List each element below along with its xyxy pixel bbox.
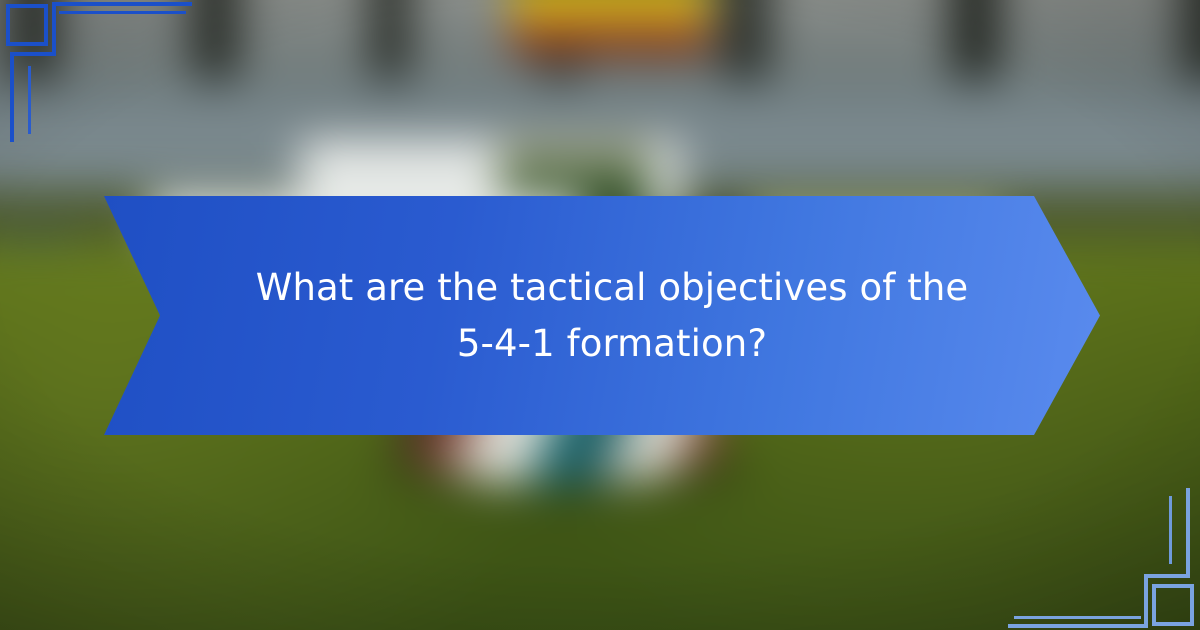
- banner-stage: What are the tactical objectives of the …: [0, 0, 1200, 630]
- bracket-line-vertical-outer: [10, 52, 14, 142]
- bracket-line-horizontal-inner: [1014, 616, 1141, 619]
- bracket-square-icon: [1152, 584, 1194, 626]
- bracket-line-vertical-inner: [1169, 496, 1172, 564]
- bracket-line-horizontal-inner: [59, 11, 186, 14]
- question-banner: What are the tactical objectives of the …: [104, 196, 1100, 435]
- bracket-corner-horizontal: [1144, 574, 1190, 578]
- bracket-corner-vertical: [52, 2, 56, 56]
- bracket-line-horizontal-outer: [1008, 624, 1148, 628]
- bracket-square-icon: [6, 4, 48, 46]
- corner-bracket-top-left: [0, 0, 220, 180]
- corner-bracket-bottom-right: [980, 450, 1200, 630]
- bracket-line-vertical-inner: [28, 66, 31, 134]
- bracket-corner-horizontal: [10, 52, 56, 56]
- bracket-line-vertical-outer: [1186, 488, 1190, 578]
- bracket-corner-vertical: [1144, 574, 1148, 628]
- question-text: What are the tactical objectives of the …: [232, 260, 992, 371]
- bracket-line-horizontal-outer: [52, 2, 192, 6]
